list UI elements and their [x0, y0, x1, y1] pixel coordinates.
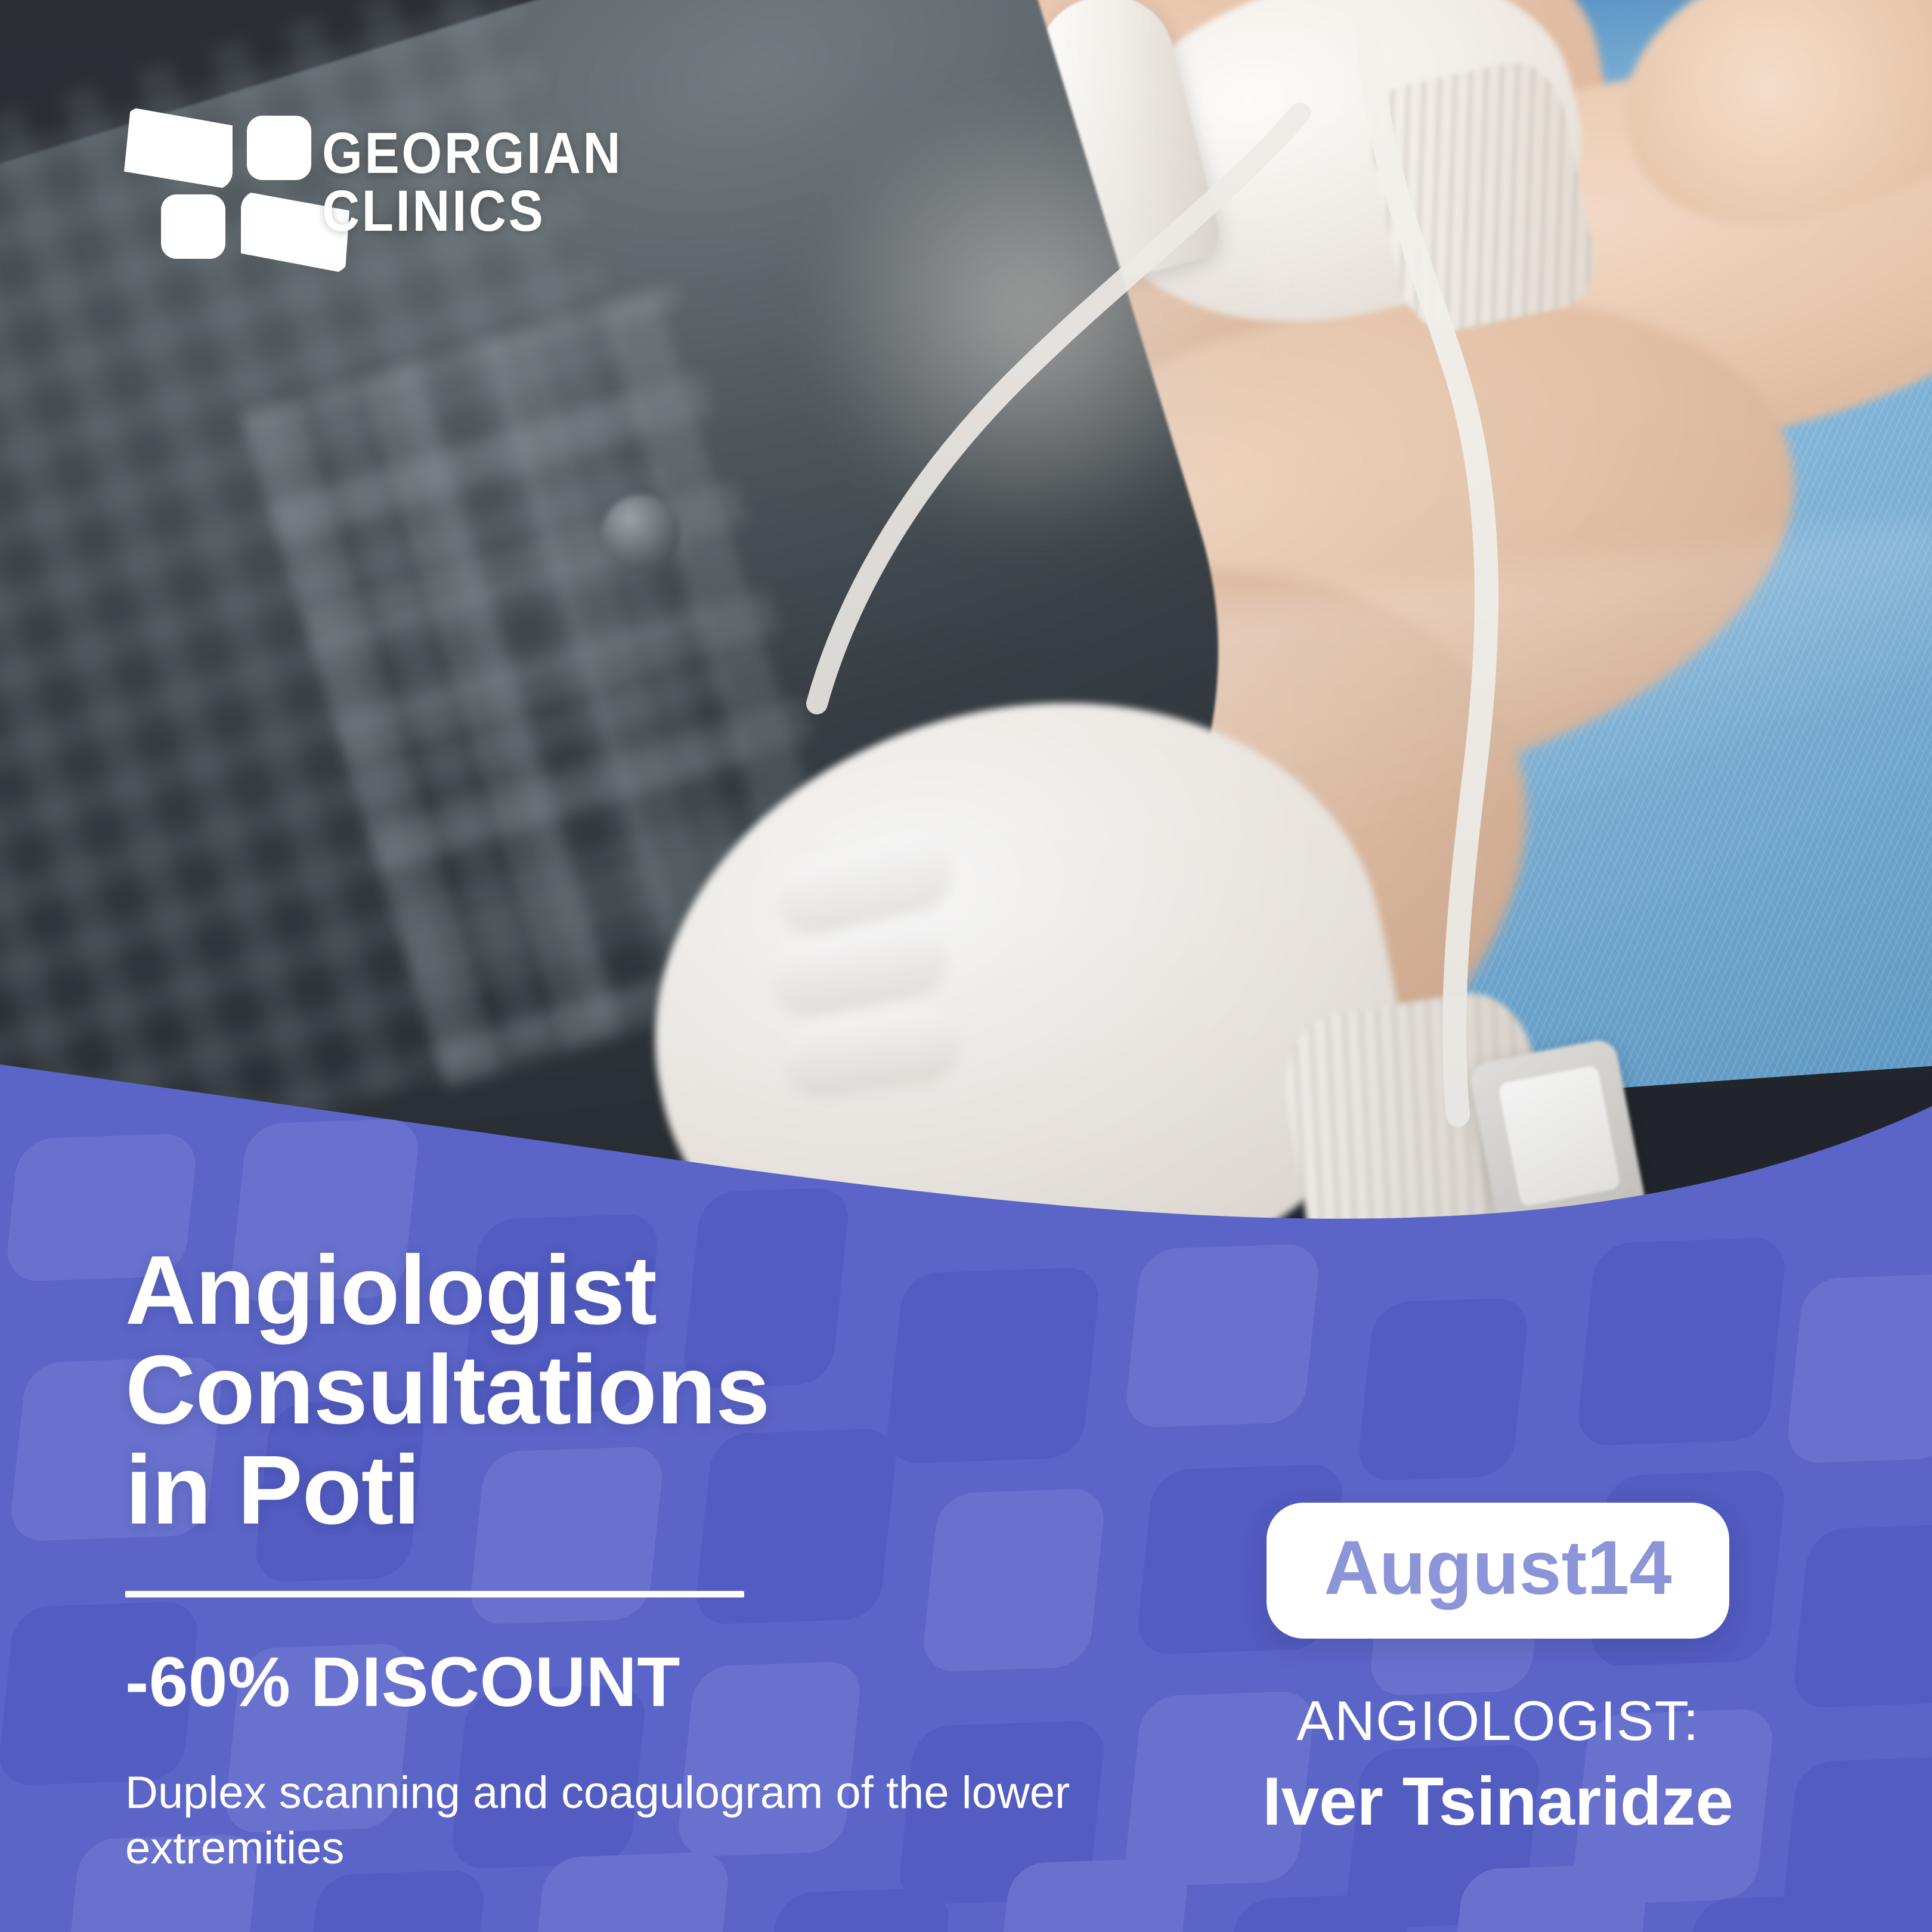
logo-tile-top-right — [247, 116, 311, 180]
four-tile-logo-icon — [124, 107, 284, 256]
logo-tile-bottom-left — [161, 194, 225, 259]
offer-description: Duplex scanning and coagulogram of the l… — [125, 1766, 1103, 1876]
event-details-block: August14 ANGIOLOGIST: Iver Tsinaridze — [1140, 1503, 1856, 1841]
date-badge[interactable]: August14 — [1267, 1503, 1729, 1639]
divider-rule — [125, 1591, 744, 1597]
brand-logo[interactable]: GEORGIAN CLINICS — [124, 107, 656, 256]
offer-text-block: Angiologist Consultations in Poti -60% D… — [125, 1240, 1210, 1876]
headline-line-3: in Poti — [125, 1440, 1210, 1540]
brand-name-line2: CLINICS — [322, 182, 623, 240]
discount-badge-text: -60% DISCOUNT — [125, 1642, 1210, 1723]
promo-poster: GEORGIAN CLINICS Angiologist Consultatio… — [0, 0, 1932, 1932]
headline-line-1: Angiologist — [125, 1240, 1210, 1340]
page-title: Angiologist Consultations in Poti — [125, 1240, 1210, 1540]
brand-wordmark: GEORGIAN CLINICS — [322, 124, 623, 240]
doctor-name: Iver Tsinaridze — [1140, 1763, 1856, 1841]
logo-tile-top-left — [124, 107, 233, 190]
doctor-role-label: ANGIOLOGIST: — [1140, 1689, 1856, 1753]
date-badge-label: August14 — [1324, 1525, 1671, 1611]
headline-line-2: Consultations — [125, 1340, 1210, 1439]
brand-name-line1: GEORGIAN — [322, 124, 623, 182]
